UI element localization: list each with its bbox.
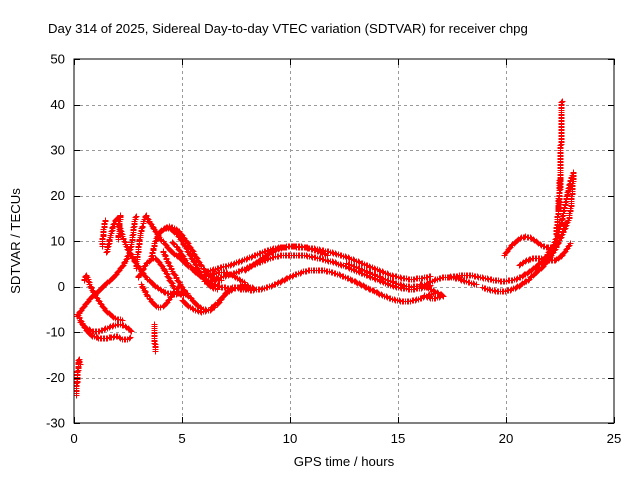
x-tick-label: 20 (499, 431, 514, 446)
y-axis-title: SDTVAR / TECUs (8, 188, 23, 294)
x-tick-label: 10 (283, 431, 298, 446)
y-tick-label: 10 (50, 234, 65, 249)
x-tick-label: 25 (607, 431, 622, 446)
chart-background (0, 0, 640, 480)
y-tick-label: 30 (50, 143, 65, 158)
chart-title: Day 314 of 2025, Sidereal Day-to-day VTE… (48, 21, 528, 36)
x-tick-label: 5 (178, 431, 185, 446)
y-tick-label: 50 (50, 52, 65, 67)
chart-container: -30-20-10010203040500510152025GPS time /… (0, 0, 640, 480)
y-tick-label: 40 (50, 97, 65, 112)
x-tick-label: 15 (391, 431, 406, 446)
x-tick-label: 0 (70, 431, 77, 446)
y-tick-label: -20 (46, 370, 65, 385)
y-tick-label: -10 (46, 325, 65, 340)
y-tick-label: 20 (50, 188, 65, 203)
y-tick-label: -30 (46, 416, 65, 431)
x-axis-title: GPS time / hours (294, 454, 395, 469)
sdtvar-scatter-plot: -30-20-10010203040500510152025GPS time /… (0, 0, 640, 480)
data-series (152, 322, 159, 355)
y-tick-label: 0 (58, 279, 65, 294)
